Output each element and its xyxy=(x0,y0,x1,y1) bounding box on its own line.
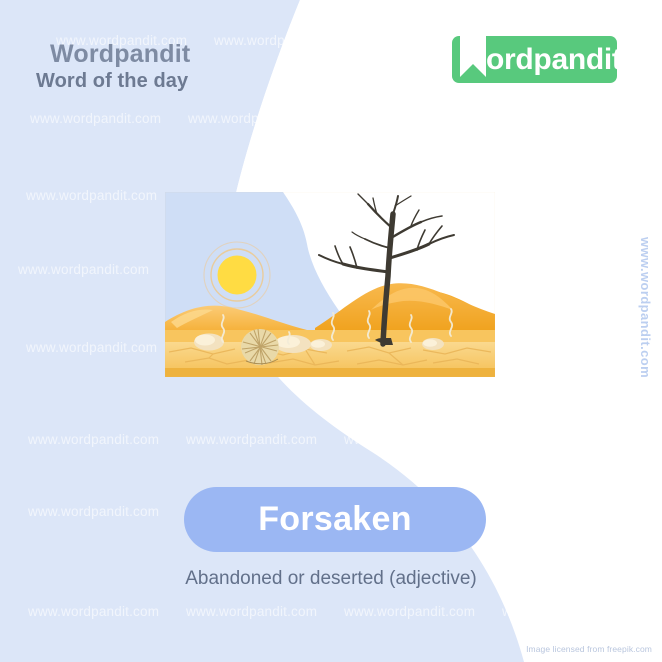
brand-title: Wordpandit xyxy=(50,40,190,69)
logo-wordmark: ordpandit xyxy=(486,36,622,83)
bookmark-w-icon xyxy=(460,28,486,77)
word-meaning: Abandoned or deserted (adjective) xyxy=(0,568,662,590)
image-credit: Image licensed from freepik.com xyxy=(526,644,652,654)
word-term: Forsaken xyxy=(258,500,412,539)
tumbleweed-icon xyxy=(241,329,279,365)
page-subtitle: Word of the day xyxy=(36,70,188,93)
desert-scene-illustration xyxy=(165,192,495,377)
wordpandit-logo[interactable]: ordpandit xyxy=(452,36,617,83)
word-of-the-day-card: www.wordpandit.com www.wordpandit.com ww… xyxy=(0,0,662,662)
word-pill[interactable]: Forsaken xyxy=(184,487,486,552)
